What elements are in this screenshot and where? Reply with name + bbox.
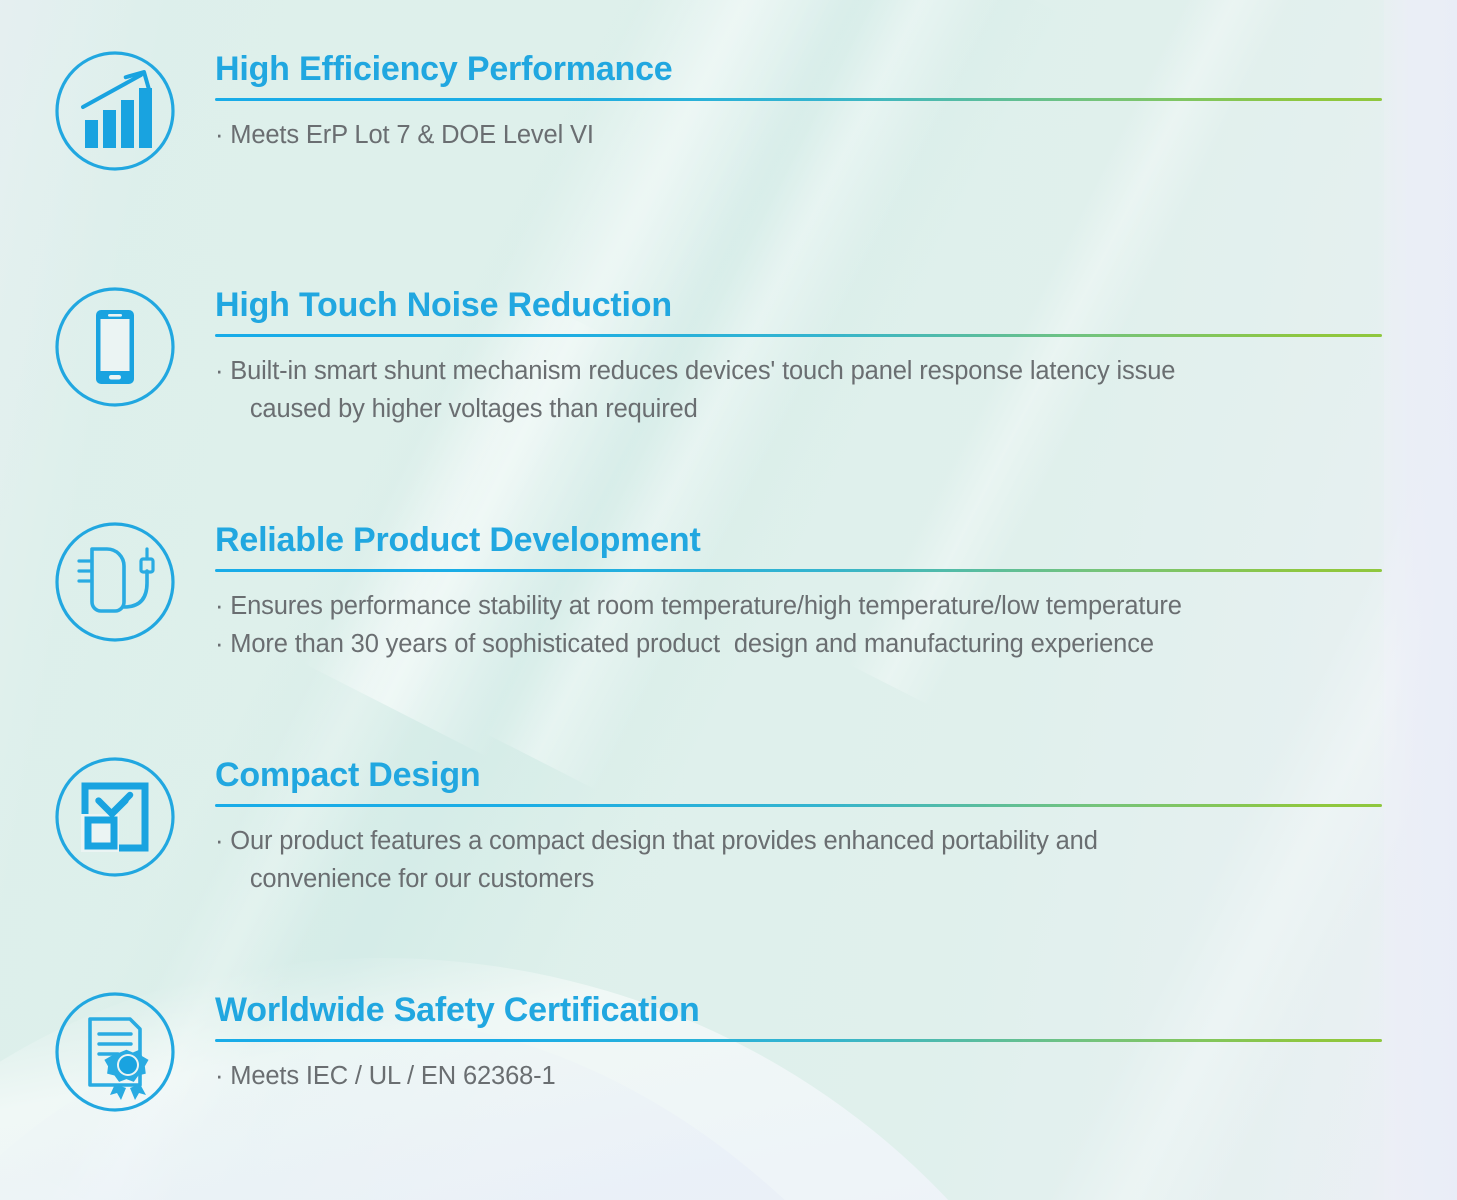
- bullet-item: · Meets IEC / UL / EN 62368-1: [215, 1057, 1392, 1095]
- feature-divider: [215, 334, 1382, 337]
- feature-bullets: · Meets IEC / UL / EN 62368-1: [215, 1057, 1392, 1095]
- feature-title: Reliable Product Development: [215, 521, 1392, 559]
- bullet-item: · Meets ErP Lot 7 & DOE Level VI: [215, 116, 1392, 154]
- feature-bullets: · Ensures performance stability at room …: [215, 587, 1392, 664]
- bullet-item: · Our product features a compact design …: [215, 822, 1392, 899]
- feature-item-worldwide-safety-certification: Worldwide Safety Certification · Meets I…: [52, 989, 1392, 1115]
- feature-item-high-touch-noise-reduction: High Touch Noise Reduction · Built-in sm…: [52, 284, 1392, 429]
- feature-divider: [215, 804, 1382, 807]
- feature-divider: [215, 98, 1382, 101]
- certificate-seal-icon: [52, 989, 178, 1115]
- bullet-item: · Ensures performance stability at room …: [215, 587, 1392, 625]
- feature-body: Compact Design · Our product features a …: [178, 754, 1392, 899]
- feature-list: High Efficiency Performance · Meets ErP …: [0, 0, 1457, 1200]
- feature-body: Reliable Product Development · Ensures p…: [178, 519, 1392, 664]
- feature-item-compact-design: Compact Design · Our product features a …: [52, 754, 1392, 899]
- feature-bullets: · Meets ErP Lot 7 & DOE Level VI: [215, 116, 1392, 154]
- smartphone-icon: [52, 284, 178, 410]
- bar-chart-growth-icon: [52, 48, 178, 174]
- feature-title: High Efficiency Performance: [215, 50, 1392, 88]
- feature-bullets: · Our product features a compact design …: [215, 822, 1392, 899]
- feature-divider: [215, 1039, 1382, 1042]
- feature-title: High Touch Noise Reduction: [215, 286, 1392, 324]
- bullet-item: · Built-in smart shunt mechanism reduces…: [215, 352, 1392, 429]
- feature-body: High Efficiency Performance · Meets ErP …: [178, 48, 1392, 154]
- feature-item-high-efficiency-performance: High Efficiency Performance · Meets ErP …: [52, 48, 1392, 174]
- power-adapter-icon: [52, 519, 178, 645]
- feature-item-reliable-product-development: Reliable Product Development · Ensures p…: [52, 519, 1392, 664]
- bullet-item: · More than 30 years of sophisticated pr…: [215, 625, 1392, 663]
- feature-bullets: · Built-in smart shunt mechanism reduces…: [215, 352, 1392, 429]
- feature-body: Worldwide Safety Certification · Meets I…: [178, 989, 1392, 1095]
- feature-title: Compact Design: [215, 756, 1392, 794]
- feature-title: Worldwide Safety Certification: [215, 991, 1392, 1029]
- feature-body: High Touch Noise Reduction · Built-in sm…: [178, 284, 1392, 429]
- compact-resize-icon: [52, 754, 178, 880]
- feature-divider: [215, 569, 1382, 572]
